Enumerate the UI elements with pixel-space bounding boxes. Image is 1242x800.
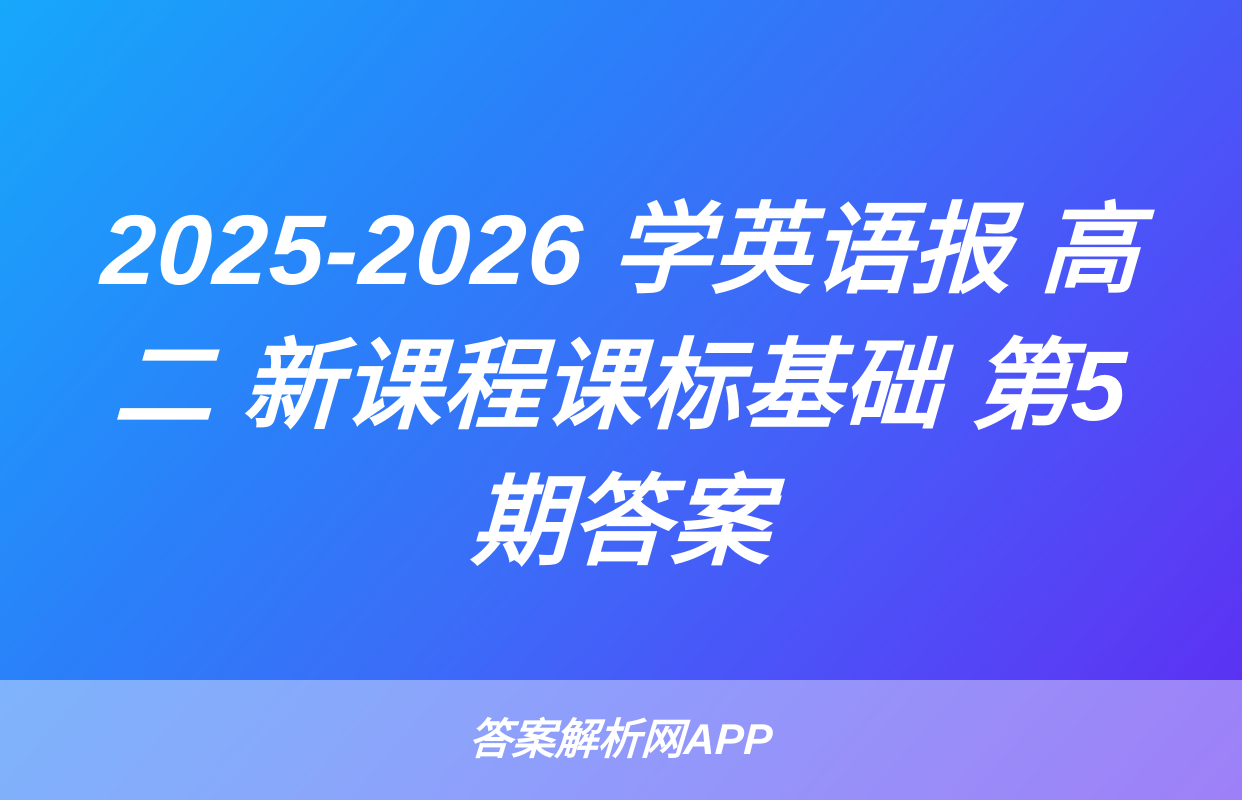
poster-title-line-3: 期答案 (469, 454, 774, 590)
poster-title: 2025-2026 学英语报 高 二 新课程课标基础 第5 期答案 (0, 182, 1242, 590)
poster-title-line-2: 二 新课程课标基础 第5 (112, 318, 1130, 454)
app-watermark-label: 答案解析网APP (468, 719, 774, 762)
footer-watermark-band: 答案解析网APP (0, 680, 1242, 800)
poster-title-line-1: 2025-2026 学英语报 高 (99, 182, 1143, 318)
answer-poster: 2025-2026 学英语报 高 二 新课程课标基础 第5 期答案 答案解析网A… (0, 0, 1242, 800)
